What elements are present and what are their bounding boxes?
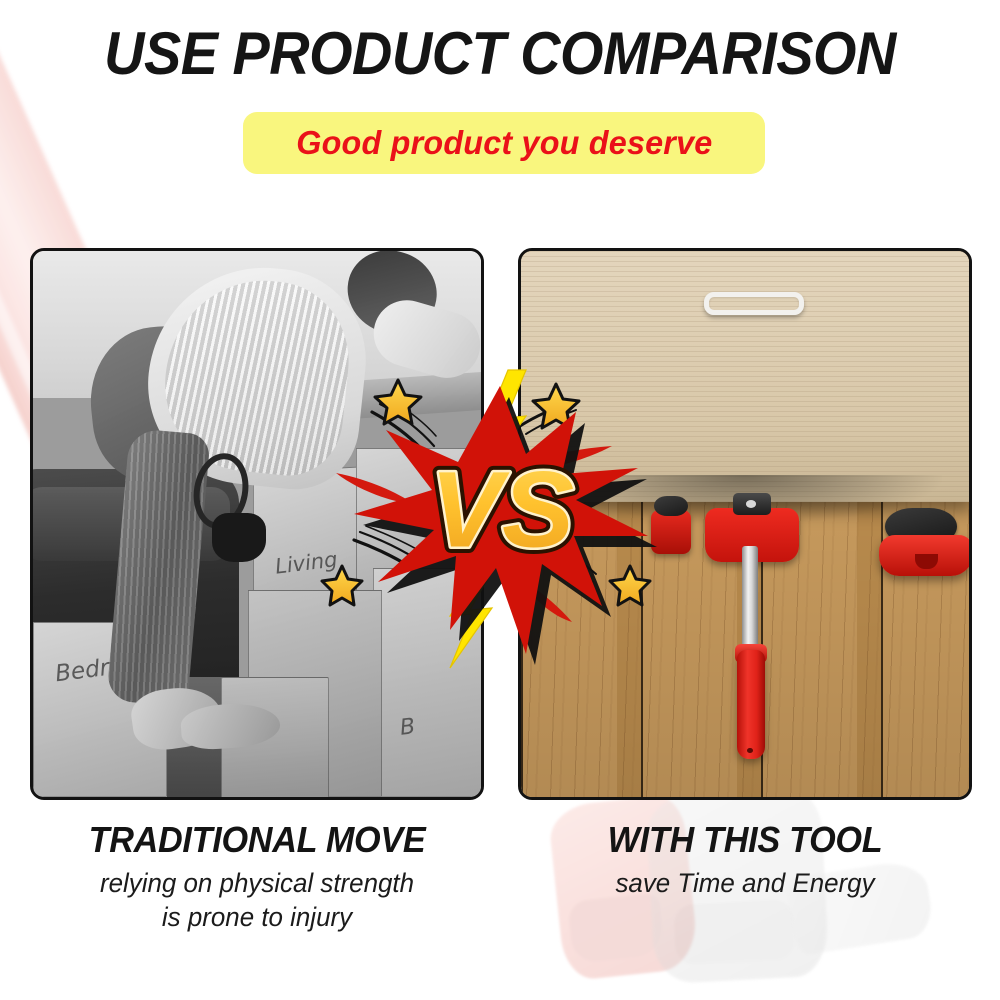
subtitle-text: Good product you deserve xyxy=(296,124,712,162)
person-bag xyxy=(212,513,266,562)
caption-traditional: TRADITIONAL MOVE relying on physical str… xyxy=(30,818,484,934)
caption-title-traditional: TRADITIONAL MOVE xyxy=(41,818,472,862)
svg-text:VS: VS xyxy=(430,449,574,570)
subtitle-badge: Good product you deserve xyxy=(243,112,765,174)
infographic-root: USE PRODUCT COMPARISON Good product you … xyxy=(0,0,1000,1000)
caption-title-with-tool: WITH THIS TOOL xyxy=(529,818,960,862)
caption-sub-with-tool-line1: save Time and Energy xyxy=(527,866,963,900)
lifter-tool-grip xyxy=(737,650,765,759)
caption-sub-traditional-line1: relying on physical strength xyxy=(39,866,475,900)
caption-with-tool: WITH THIS TOOL save Time and Energy xyxy=(518,818,972,900)
caption-sub-traditional-line2: is prone to injury xyxy=(39,900,475,934)
vs-burst: VS VS VS xyxy=(330,368,670,668)
roller-dolly-right xyxy=(879,508,972,579)
page-title: USE PRODUCT COMPARISON xyxy=(35,22,965,86)
vs-label: VS VS VS xyxy=(430,449,574,570)
dolly-body xyxy=(879,535,972,576)
furniture-handle xyxy=(704,292,805,315)
